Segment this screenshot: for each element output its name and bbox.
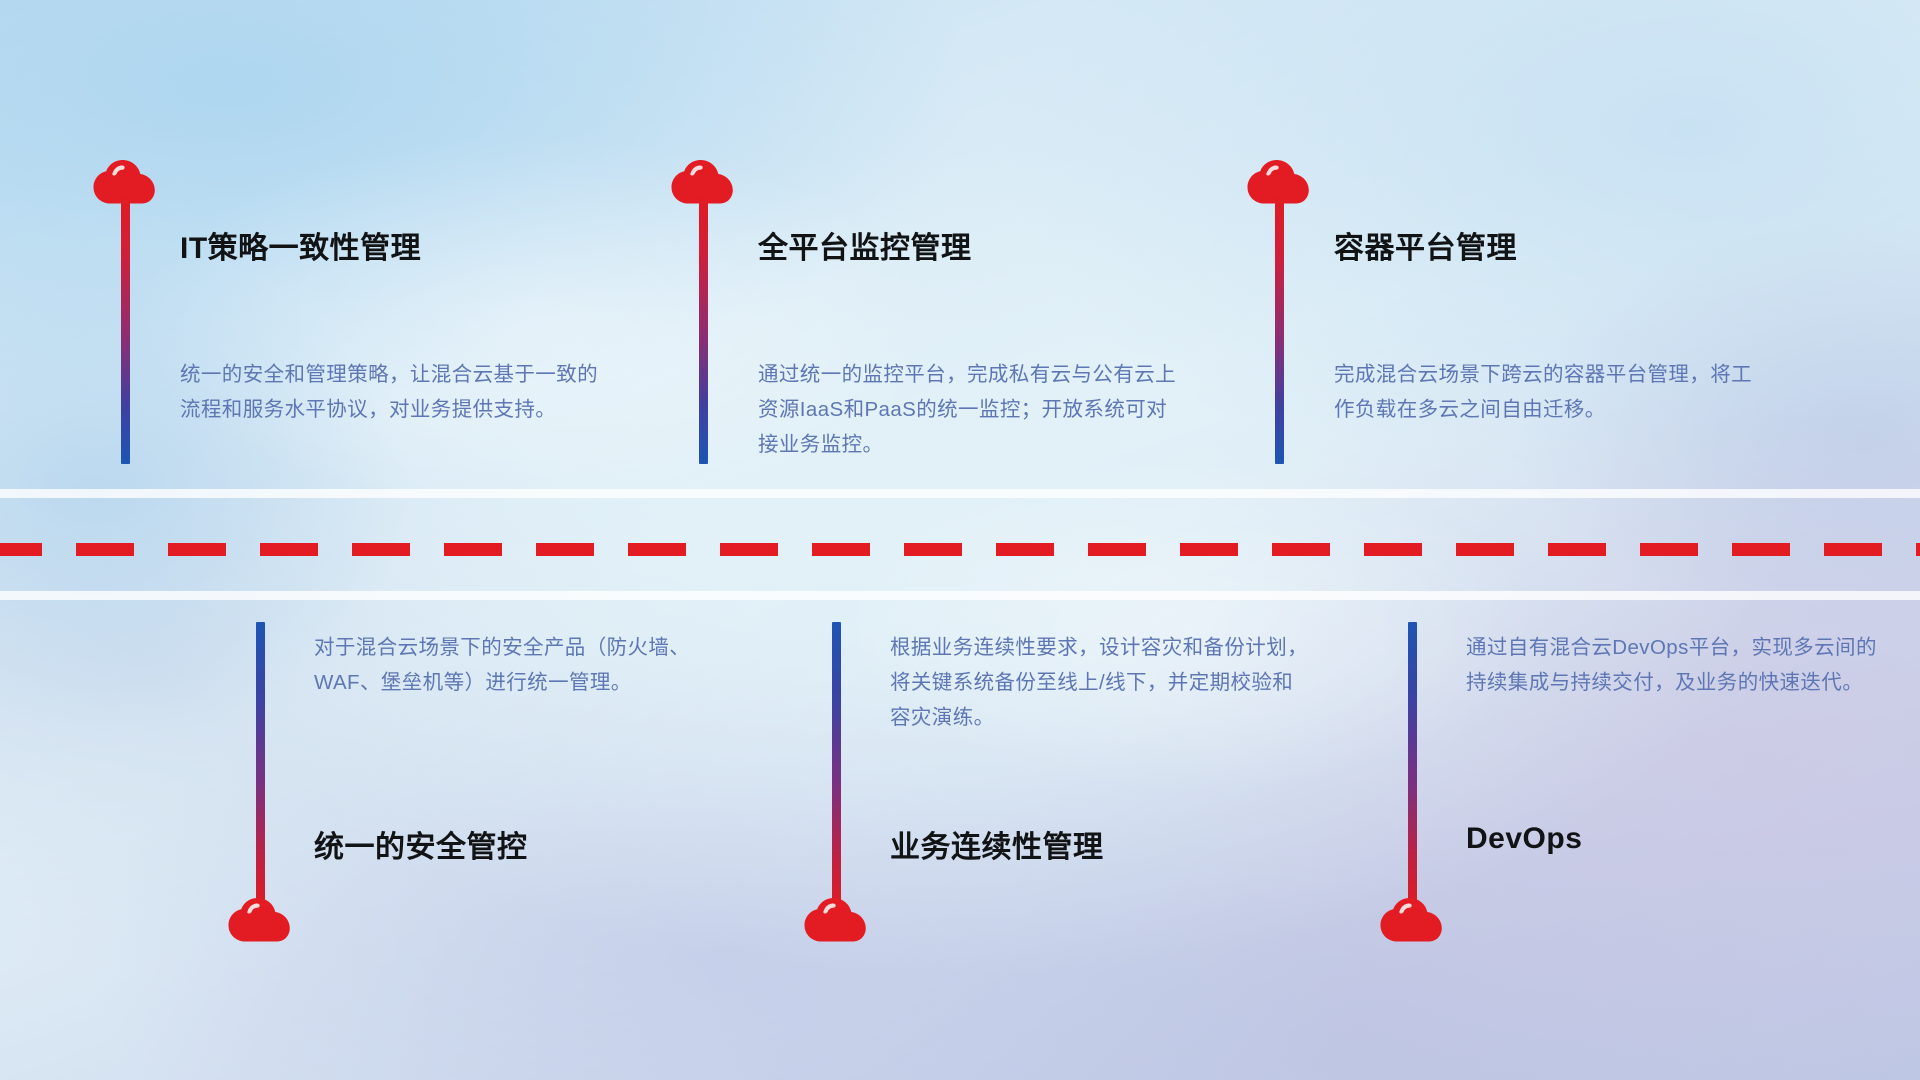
divider-dash bbox=[444, 543, 502, 556]
divider-dash bbox=[76, 543, 134, 556]
divider-dash bbox=[1640, 543, 1698, 556]
divider-dash bbox=[352, 543, 410, 556]
timeline-stem bbox=[1275, 196, 1284, 464]
divider-dash bbox=[536, 543, 594, 556]
cloud-icon bbox=[228, 898, 290, 942]
cloud-icon bbox=[804, 898, 866, 942]
divider-dash bbox=[720, 543, 778, 556]
divider-rail-top bbox=[0, 489, 1920, 498]
item-title: IT策略一致性管理 bbox=[180, 223, 421, 267]
item-title: 统一的安全管控 bbox=[314, 822, 528, 866]
infographic-canvas: IT策略一致性管理 统一的安全和管理策略，让混合云基于一致的流程和服务水平协议，… bbox=[0, 0, 1920, 1080]
item-description: 根据业务连续性要求，设计容灾和备份计划，将关键系统备份至线上/线下，并定期校验和… bbox=[890, 630, 1310, 735]
divider-dash bbox=[812, 543, 870, 556]
item-title: 容器平台管理 bbox=[1334, 223, 1517, 267]
divider-rail-bottom bbox=[0, 591, 1920, 600]
item-description: 统一的安全和管理策略，让混合云基于一致的流程和服务水平协议，对业务提供支持。 bbox=[180, 357, 600, 427]
divider-dash bbox=[1732, 543, 1790, 556]
timeline-stem bbox=[121, 196, 130, 464]
item-description: 通过统一的监控平台，完成私有云与公有云上资源IaaS和PaaS的统一监控；开放系… bbox=[758, 357, 1178, 462]
divider-dash bbox=[1272, 543, 1330, 556]
item-title: DevOps bbox=[1466, 822, 1582, 856]
timeline-stem bbox=[832, 622, 841, 912]
divider-dash bbox=[628, 543, 686, 556]
divider-dashed-line bbox=[0, 543, 1920, 556]
divider-dash bbox=[0, 543, 42, 556]
divider-dash bbox=[1916, 543, 1920, 556]
item-title: 业务连续性管理 bbox=[890, 822, 1104, 866]
divider-dash bbox=[904, 543, 962, 556]
divider-dash bbox=[1456, 543, 1514, 556]
divider-dash bbox=[260, 543, 318, 556]
divider-dash bbox=[1548, 543, 1606, 556]
divider-dash bbox=[996, 543, 1054, 556]
item-description: 完成混合云场景下跨云的容器平台管理，将工作负载在多云之间自由迁移。 bbox=[1334, 357, 1754, 427]
item-title: 全平台监控管理 bbox=[758, 223, 972, 267]
divider-dash bbox=[1088, 543, 1146, 556]
divider-dash bbox=[1364, 543, 1422, 556]
timeline-stem bbox=[699, 196, 708, 464]
divider-dash bbox=[168, 543, 226, 556]
divider-dash bbox=[1180, 543, 1238, 556]
item-description: 对于混合云场景下的安全产品（防火墙、WAF、堡垒机等）进行统一管理。 bbox=[314, 630, 734, 700]
timeline-stem bbox=[1408, 622, 1417, 912]
cloud-icon bbox=[1380, 898, 1442, 942]
divider-dash bbox=[1824, 543, 1882, 556]
timeline-stem bbox=[256, 622, 265, 912]
item-description: 通过自有混合云DevOps平台，实现多云间的持续集成与持续交付，及业务的快速迭代… bbox=[1466, 630, 1886, 700]
